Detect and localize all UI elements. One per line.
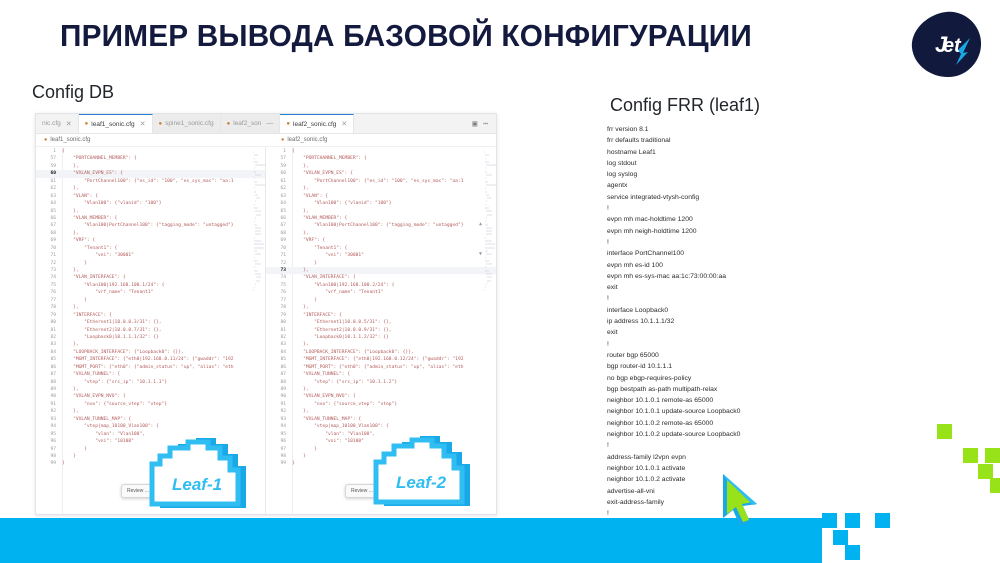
line-source: "Vlan100": {"vlanid": "100"} bbox=[292, 200, 496, 207]
line-number: 79 bbox=[266, 312, 292, 319]
line-number: 68 bbox=[266, 230, 292, 237]
minimap-right[interactable] bbox=[484, 151, 494, 511]
line-source: "PortChannel100": {"es_id": "100", "es_s… bbox=[292, 178, 496, 185]
code-line[interactable]: 60 "VXLAN_EVPN_ES": { bbox=[266, 170, 496, 177]
line-number: 87 bbox=[266, 371, 292, 378]
code-line[interactable]: 78 }, bbox=[36, 304, 265, 311]
line-number: 57 bbox=[36, 155, 62, 162]
minimap-line bbox=[485, 250, 488, 252]
minimap-line bbox=[486, 230, 492, 232]
code-line[interactable]: 68 }, bbox=[266, 230, 496, 237]
code-line[interactable]: 1{ bbox=[36, 148, 265, 155]
minimap-line bbox=[255, 283, 256, 285]
minimap-line bbox=[485, 207, 489, 209]
code-line[interactable]: 83 }, bbox=[266, 341, 496, 348]
editor-tab-leaf2-right[interactable]: ● leaf2_sonic.cfg ✕ bbox=[280, 114, 354, 133]
modified-dot-icon: ● bbox=[159, 121, 163, 127]
code-line[interactable]: 65 }, bbox=[36, 208, 265, 215]
code-line[interactable]: 73 }, bbox=[266, 267, 496, 274]
minimap-line bbox=[485, 154, 489, 156]
line-number: 84 bbox=[266, 349, 292, 356]
line-number: 1 bbox=[266, 148, 292, 155]
code-line[interactable]: 79 "INTERFACE": { bbox=[36, 312, 265, 319]
code-line[interactable]: 81 "Ethernet2|10.0.0.7/31": {}, bbox=[36, 327, 265, 334]
minimap-line bbox=[254, 204, 255, 206]
code-line[interactable]: 68 }, bbox=[36, 230, 265, 237]
line-source: "VLAN_INTERFACE": { bbox=[62, 274, 265, 281]
scroll-down-icon[interactable]: ▼ bbox=[479, 251, 482, 257]
line-source: "MGMT_PORT": {"eth0": {"admin_status": "… bbox=[62, 364, 265, 371]
line-source: "Loopback0|10.1.1.1/32": {} bbox=[62, 334, 265, 341]
code-line[interactable]: 80 "Ethernet1|10.0.0.5/31": {}, bbox=[266, 319, 496, 326]
minimap-line bbox=[254, 266, 255, 268]
code-line[interactable]: 64 "Vlan100": {"vlanid": "100"} bbox=[36, 200, 265, 207]
frr-config-line: address-family l2vpn evpn bbox=[607, 452, 857, 463]
frr-config-line: ip address 10.1.1.1/32 bbox=[607, 316, 857, 327]
code-line[interactable]: 64 "Vlan100": {"vlanid": "100"} bbox=[266, 200, 496, 207]
code-line[interactable]: 90 "VXLAN_EVPN_NVO": { bbox=[36, 393, 265, 400]
minimap-line bbox=[485, 243, 495, 245]
line-source: "LOOPBACK_INTERFACE": {"Loopback0": {}}, bbox=[62, 349, 265, 356]
line-source: "Vlan100": {"vlanid": "100"} bbox=[62, 200, 265, 207]
jet-logo: J e t bbox=[908, 8, 984, 80]
code-line[interactable]: 73 }, bbox=[36, 267, 265, 274]
minimap-line bbox=[253, 289, 254, 291]
minimap-line bbox=[254, 207, 258, 209]
jet-logo-icon: J e t bbox=[908, 8, 984, 80]
editor-tab-nic[interactable]: nic.cfg ✕ bbox=[36, 114, 79, 133]
minimap-line bbox=[486, 253, 492, 255]
line-number: 70 bbox=[266, 245, 292, 252]
code-line[interactable]: 62 }, bbox=[266, 185, 496, 192]
minimap-line bbox=[253, 151, 254, 153]
line-source: "PORTCHANNEL_MEMBER": { bbox=[292, 155, 496, 162]
file-icon: ● bbox=[44, 137, 47, 143]
code-line[interactable]: 90 "VXLAN_EVPN_NVO": { bbox=[266, 393, 496, 400]
frr-config-line: bgp bestpath as-path multipath-relax bbox=[607, 384, 857, 395]
line-source: }, bbox=[292, 208, 496, 215]
code-line[interactable]: 82 "Loopback0|10.1.1.1/32": {} bbox=[36, 334, 265, 341]
frr-config-line: neighbor 10.1.0.1 update-source Loopback… bbox=[607, 406, 857, 417]
code-line[interactable]: 93 "VXLAN_TUNNEL_MAP": { bbox=[266, 416, 496, 423]
code-line[interactable]: 60 "VXLAN_EVPN_ES": { bbox=[36, 170, 265, 177]
editor-tabbar: nic.cfg ✕ ● leaf1_sonic.cfg ✕ ● spine1_s… bbox=[36, 114, 496, 134]
editor-tab-leaf2-partial[interactable]: ● leaf2_son — bbox=[221, 114, 281, 133]
frr-config-line: exit bbox=[607, 282, 857, 293]
code-line[interactable]: 74 "VLAN_INTERFACE": { bbox=[36, 274, 265, 281]
minimap-line bbox=[486, 184, 496, 186]
minimap-line bbox=[256, 197, 260, 199]
code-line[interactable]: 1{ bbox=[266, 148, 496, 155]
code-content-left[interactable]: 1{57 "PORTCHANNEL_MEMBER": {59 },60 "VXL… bbox=[36, 147, 265, 468]
code-line[interactable]: 94 "vtep|map_10100_Vlan100": { bbox=[36, 423, 265, 430]
code-line[interactable]: 72 } bbox=[266, 260, 496, 267]
frr-config-line: agentx bbox=[607, 180, 857, 191]
line-number: 74 bbox=[266, 274, 292, 281]
minimap-line bbox=[487, 214, 492, 216]
line-number: 95 bbox=[36, 431, 62, 438]
code-line[interactable]: 71 "vni": "30001" bbox=[36, 252, 265, 259]
frr-config-line: log syslog bbox=[607, 169, 857, 180]
line-source: } bbox=[62, 297, 265, 304]
minimap-line bbox=[486, 233, 492, 235]
editor-tab-label: spine1_sonic.cfg bbox=[165, 120, 213, 127]
frr-config-line: evpn mh neigh-holdtime 1200 bbox=[607, 226, 857, 237]
close-icon[interactable]: ✕ bbox=[341, 120, 347, 128]
line-source: "Ethernet1|10.0.0.3/31": {}, bbox=[62, 319, 265, 326]
code-line[interactable]: 80 "Ethernet1|10.0.0.3/31": {}, bbox=[36, 319, 265, 326]
minimap-line bbox=[255, 253, 261, 255]
code-line[interactable]: 75 "Vlan100|192.168.100.2/24": { bbox=[266, 282, 496, 289]
caption-config-frr: Config FRR (leaf1) bbox=[610, 95, 760, 116]
minimap-line bbox=[487, 276, 492, 278]
code-line[interactable]: 89 }, bbox=[266, 386, 496, 393]
code-line[interactable]: 67 "Vlan100|PortChannel100": {"tagging_m… bbox=[36, 222, 265, 229]
line-source: }, bbox=[62, 408, 265, 415]
deco-square-green bbox=[937, 424, 952, 439]
minimap-line bbox=[254, 224, 257, 226]
line-number: 61 bbox=[36, 178, 62, 185]
line-source: "VXLAN_EVPN_ES": { bbox=[292, 170, 496, 177]
frr-config-line: bgp router-id 10.1.1.1 bbox=[607, 361, 857, 372]
line-source: }, bbox=[292, 341, 496, 348]
code-line[interactable]: 59 }, bbox=[266, 163, 496, 170]
minimap-line bbox=[485, 266, 486, 268]
minimap-line bbox=[486, 227, 492, 229]
minimap-line bbox=[255, 217, 256, 219]
line-number: 61 bbox=[266, 178, 292, 185]
code-line[interactable]: 67 "Vlan100|PortChannel100": {"tagging_m… bbox=[266, 222, 496, 229]
minimap-line bbox=[484, 289, 485, 291]
scroll-up-icon[interactable]: ▲ bbox=[479, 221, 482, 227]
line-source: "VXLAN_EVPN_ES": { bbox=[62, 170, 265, 177]
line-number: 75 bbox=[36, 282, 62, 289]
minimap-line bbox=[486, 263, 492, 265]
line-source: "Vlan100|PortChannel100": {"tagging_mode… bbox=[62, 222, 265, 229]
line-source: "VLAN_MEMBER": { bbox=[62, 215, 265, 222]
line-source: "PortChannel100": {"es_id": "100", "es_s… bbox=[62, 178, 265, 185]
code-line[interactable]: 72 } bbox=[36, 260, 265, 267]
line-source: "nvo": {"source_vtep": "vtep"} bbox=[292, 401, 496, 408]
line-source: "vni": "30001" bbox=[62, 252, 265, 259]
code-line[interactable]: 78 }, bbox=[266, 304, 496, 311]
line-number: 90 bbox=[266, 393, 292, 400]
line-number: 88 bbox=[266, 379, 292, 386]
line-number: 72 bbox=[266, 260, 292, 267]
frr-config-line: exit bbox=[607, 327, 857, 338]
minimap-line bbox=[254, 237, 255, 239]
code-line[interactable]: 79 "INTERFACE": { bbox=[266, 312, 496, 319]
minimap-line bbox=[254, 286, 255, 288]
line-source: "Ethernet2|10.0.0.9/31": {}, bbox=[292, 327, 496, 334]
line-number: 1 bbox=[36, 148, 62, 155]
code-line[interactable]: 91 "nvo": {"source_vtep": "vtep"} bbox=[36, 401, 265, 408]
code-line[interactable]: 92 }, bbox=[36, 408, 265, 415]
line-source: "Tenant1": { bbox=[62, 245, 265, 252]
minimap-line bbox=[254, 270, 258, 272]
line-source: "VLAN_INTERFACE": { bbox=[292, 274, 496, 281]
line-source: "VLAN": { bbox=[62, 193, 265, 200]
line-source: "VXLAN_EVPN_NVO": { bbox=[62, 393, 265, 400]
breadcrumb-left-label: leaf1_sonic.cfg bbox=[50, 137, 90, 143]
line-source: "nvo": {"source_vtep": "vtep"} bbox=[62, 401, 265, 408]
minimap-line bbox=[254, 257, 255, 259]
line-source: }, bbox=[62, 341, 265, 348]
code-line[interactable]: 88 "vtep": {"src_ip": "10.1.1.1"} bbox=[36, 379, 265, 386]
frr-config-line: ! bbox=[607, 440, 857, 451]
bottom-band bbox=[0, 518, 822, 563]
line-number: 93 bbox=[36, 416, 62, 423]
line-number: 86 bbox=[266, 364, 292, 371]
line-number: 67 bbox=[266, 222, 292, 229]
code-line[interactable]: 84 "LOOPBACK_INTERFACE": {"Loopback0": {… bbox=[36, 349, 265, 356]
line-source: "Ethernet2|10.0.0.7/31": {}, bbox=[62, 327, 265, 334]
line-number: 69 bbox=[36, 237, 62, 244]
minimap-line bbox=[256, 214, 261, 216]
code-line[interactable]: 74 "VLAN_INTERFACE": { bbox=[266, 274, 496, 281]
editor-tab-label: nic.cfg bbox=[42, 120, 61, 127]
line-number: 92 bbox=[36, 408, 62, 415]
code-line[interactable]: 86 "MGMT_PORT": {"eth0": {"admin_status"… bbox=[36, 364, 265, 371]
line-source: "vtep|map_10100_Vlan100": { bbox=[62, 423, 265, 430]
code-line[interactable]: 77 } bbox=[266, 297, 496, 304]
line-number: 93 bbox=[266, 416, 292, 423]
code-line[interactable]: 88 "vtep": {"src_ip": "10.1.1.2"} bbox=[266, 379, 496, 386]
line-number: 67 bbox=[36, 222, 62, 229]
minimap-line bbox=[254, 161, 258, 163]
code-line[interactable]: 86 "MGMT_PORT": {"eth0": {"admin_status"… bbox=[266, 364, 496, 371]
code-line[interactable]: 57 "PORTCHANNEL_MEMBER": { bbox=[36, 155, 265, 162]
frr-config-line: evpn mh es-id 100 bbox=[607, 260, 857, 271]
code-line[interactable]: 65 }, bbox=[266, 208, 496, 215]
code-line[interactable]: 61 "PortChannel100": {"es_id": "100", "e… bbox=[266, 178, 496, 185]
line-number: 71 bbox=[266, 252, 292, 259]
line-number: 64 bbox=[36, 200, 62, 207]
line-number: 72 bbox=[36, 260, 62, 267]
line-number: 84 bbox=[36, 349, 62, 356]
frr-config-line: ! bbox=[607, 293, 857, 304]
minimap-line bbox=[485, 240, 492, 242]
line-source: "vrf_name": "Tenant1" bbox=[62, 289, 265, 296]
code-line[interactable]: 85 "MGMT_INTERFACE": {"eth0|192.168.0.12… bbox=[266, 356, 496, 363]
editor-tab-label: leaf2_sonic.cfg bbox=[293, 121, 336, 128]
line-number: 73 bbox=[266, 267, 292, 274]
line-number: 78 bbox=[266, 304, 292, 311]
line-number: 60 bbox=[266, 170, 292, 177]
line-number: 69 bbox=[266, 237, 292, 244]
frr-config-line: ! bbox=[607, 203, 857, 214]
minimap-line bbox=[254, 167, 255, 169]
code-line[interactable]: 69 "VRF": { bbox=[36, 237, 265, 244]
line-number: 87 bbox=[36, 371, 62, 378]
minimap-line bbox=[255, 210, 261, 212]
line-number: 60 bbox=[36, 170, 62, 177]
code-line[interactable]: 92 }, bbox=[266, 408, 496, 415]
minimap-line bbox=[256, 280, 260, 282]
code-line[interactable]: 85 "MGMT_INTERFACE": {"eth0|192.168.0.11… bbox=[36, 356, 265, 363]
minimap-line bbox=[485, 220, 486, 222]
minimap-line bbox=[485, 177, 486, 179]
code-line[interactable]: 69 "VRF": { bbox=[266, 237, 496, 244]
modified-dot-icon: ● bbox=[227, 121, 231, 127]
line-number: 81 bbox=[266, 327, 292, 334]
line-source: }, bbox=[62, 230, 265, 237]
breadcrumb-left[interactable]: ● leaf1_sonic.cfg bbox=[36, 137, 273, 143]
minimap-line bbox=[255, 230, 261, 232]
line-source: "VLAN": { bbox=[292, 193, 496, 200]
line-number: 81 bbox=[36, 327, 62, 334]
minimap-line bbox=[254, 260, 258, 262]
frr-config-line: interface PortChannel100 bbox=[607, 248, 857, 259]
line-source: "Vlan100|192.168.100.2/24": { bbox=[292, 282, 496, 289]
code-line[interactable]: 75 "Vlan100|192.168.100.1/24": { bbox=[36, 282, 265, 289]
line-number: 94 bbox=[266, 423, 292, 430]
code-line[interactable]: 71 "vni": "30001" bbox=[266, 252, 496, 259]
minimap-line bbox=[485, 237, 486, 239]
line-number: 77 bbox=[266, 297, 292, 304]
more-actions-icon[interactable]: ⋯ bbox=[483, 120, 488, 128]
minimap-line bbox=[485, 167, 486, 169]
deco-square-blue bbox=[875, 513, 890, 528]
frr-config-line: ! bbox=[607, 339, 857, 350]
minimap-line bbox=[254, 240, 261, 242]
line-source: "VRF": { bbox=[62, 237, 265, 244]
line-number: 66 bbox=[266, 215, 292, 222]
frr-config-line: frr version 8.1 bbox=[607, 124, 857, 135]
code-line[interactable]: 91 "nvo": {"source_vtep": "vtep"} bbox=[266, 401, 496, 408]
code-content-right[interactable]: 1{57 "PORTCHANNEL_MEMBER": {59 },60 "VXL… bbox=[266, 147, 496, 468]
minimap-line bbox=[486, 273, 492, 275]
modified-dot-icon: ● bbox=[85, 121, 89, 127]
editor-tab-label: leaf1_sonic.cfg bbox=[91, 121, 134, 128]
code-line[interactable]: 66 "VLAN_MEMBER": { bbox=[36, 215, 265, 222]
code-line[interactable]: 87 "VXLAN_TUNNEL": { bbox=[266, 371, 496, 378]
line-source: "Loopback0|10.1.1.2/32": {} bbox=[292, 334, 496, 341]
caption-config-db: Config DB bbox=[32, 82, 114, 103]
minimap-line bbox=[254, 171, 256, 173]
line-number: 99 bbox=[266, 460, 292, 467]
breadcrumb-right-label: leaf2_sonic.cfg bbox=[287, 137, 327, 143]
line-number: 97 bbox=[266, 446, 292, 453]
editor-tab-spine1[interactable]: ● spine1_sonic.cfg bbox=[153, 114, 221, 133]
code-line[interactable]: 76 "vrf_name": "Tenant1" bbox=[36, 289, 265, 296]
line-source: "LOOPBACK_INTERFACE": {"Loopback0": {}}, bbox=[292, 349, 496, 356]
minimap-line bbox=[255, 194, 258, 196]
split-editor-icon[interactable]: ▣ bbox=[472, 120, 477, 128]
minimap-line bbox=[485, 161, 489, 163]
line-source: }, bbox=[292, 163, 496, 170]
line-number: 68 bbox=[36, 230, 62, 237]
minimap-line bbox=[256, 276, 261, 278]
code-line[interactable]: 70 "Tenant1": { bbox=[36, 245, 265, 252]
minimap-line bbox=[254, 243, 264, 245]
deco-square-blue bbox=[833, 530, 848, 545]
minimap-line bbox=[485, 257, 486, 259]
minimap-line bbox=[486, 174, 492, 176]
code-line[interactable]: 77 } bbox=[36, 297, 265, 304]
editor-breadcrumbs: ● leaf1_sonic.cfg ● leaf2_sonic.cfg bbox=[36, 134, 496, 147]
line-number: 92 bbox=[266, 408, 292, 415]
line-source: { bbox=[292, 148, 496, 155]
line-source: }, bbox=[292, 304, 496, 311]
callout-label: Leaf-1 bbox=[172, 475, 222, 494]
line-source: "MGMT_PORT": {"eth0": {"admin_status": "… bbox=[292, 364, 496, 371]
minimap-line bbox=[485, 260, 489, 262]
code-line[interactable]: 70 "Tenant1": { bbox=[266, 245, 496, 252]
line-number: 70 bbox=[36, 245, 62, 252]
code-line[interactable]: 82 "Loopback0|10.1.1.2/32": {} bbox=[266, 334, 496, 341]
close-icon[interactable]: ✕ bbox=[140, 120, 146, 128]
minimap-line bbox=[254, 158, 255, 160]
line-number: 57 bbox=[266, 155, 292, 162]
minimap-line bbox=[486, 283, 487, 285]
minimap-line bbox=[484, 151, 485, 153]
code-line[interactable]: 87 "VXLAN_TUNNEL": { bbox=[36, 371, 265, 378]
line-number: 59 bbox=[36, 163, 62, 170]
code-line[interactable]: 62 }, bbox=[36, 185, 265, 192]
line-number: 79 bbox=[36, 312, 62, 319]
line-source: "PORTCHANNEL_MEMBER": { bbox=[62, 155, 265, 162]
line-source: } bbox=[292, 260, 496, 267]
line-source: }, bbox=[292, 386, 496, 393]
line-source: "VXLAN_TUNNEL": { bbox=[62, 371, 265, 378]
line-number: 94 bbox=[36, 423, 62, 430]
line-source: }, bbox=[62, 304, 265, 311]
code-line[interactable]: 83 }, bbox=[36, 341, 265, 348]
line-source: }, bbox=[62, 163, 265, 170]
minimap-line bbox=[255, 233, 261, 235]
code-line[interactable]: 63 "VLAN": { bbox=[266, 193, 496, 200]
code-line[interactable]: 57 "PORTCHANNEL_MEMBER": { bbox=[266, 155, 496, 162]
code-line[interactable]: 76 "vrf_name": "Tenant1" bbox=[266, 289, 496, 296]
code-line[interactable]: 66 "VLAN_MEMBER": { bbox=[266, 215, 496, 222]
line-source: "VLAN_MEMBER": { bbox=[292, 215, 496, 222]
minimap-line bbox=[254, 177, 255, 179]
frr-config-line: service integrated-vtysh-config bbox=[607, 192, 857, 203]
editor-tab-leaf1[interactable]: ● leaf1_sonic.cfg ✕ bbox=[79, 114, 153, 133]
deco-square-green bbox=[963, 448, 978, 463]
pixel-cursor-icon bbox=[717, 470, 777, 545]
frr-config-line: router bgp 65000 bbox=[607, 350, 857, 361]
frr-config-line: log stdout bbox=[607, 158, 857, 169]
line-source: "vtep": {"src_ip": "10.1.1.2"} bbox=[292, 379, 496, 386]
code-line[interactable]: 84 "LOOPBACK_INTERFACE": {"Loopback0": {… bbox=[266, 349, 496, 356]
minimap-line bbox=[254, 181, 257, 183]
tabs-overflow-icon[interactable]: — bbox=[266, 120, 273, 127]
line-source: "vni": "30001" bbox=[292, 252, 496, 259]
minimap-line bbox=[485, 204, 486, 206]
line-source: { bbox=[62, 148, 265, 155]
line-number: 62 bbox=[266, 185, 292, 192]
code-line[interactable]: 59 }, bbox=[36, 163, 265, 170]
code-line[interactable]: 81 "Ethernet2|10.0.0.9/31": {}, bbox=[266, 327, 496, 334]
line-source: "Tenant1": { bbox=[292, 245, 496, 252]
line-source: "VXLAN_TUNNEL": { bbox=[292, 371, 496, 378]
line-number: 83 bbox=[266, 341, 292, 348]
line-number: 78 bbox=[36, 304, 62, 311]
line-number: 96 bbox=[266, 438, 292, 445]
code-line[interactable]: 63 "VLAN": { bbox=[36, 193, 265, 200]
line-number: 66 bbox=[36, 215, 62, 222]
code-line[interactable]: 61 "PortChannel100": {"es_id": "100", "e… bbox=[36, 178, 265, 185]
close-icon[interactable]: ✕ bbox=[66, 120, 72, 128]
breadcrumb-right[interactable]: ● leaf2_sonic.cfg bbox=[273, 137, 327, 143]
frr-config-line: evpn mh mac-holdtime 1200 bbox=[607, 214, 857, 225]
code-line[interactable]: 93 "VXLAN_TUNNEL_MAP": { bbox=[36, 416, 265, 423]
minimap-line bbox=[486, 210, 492, 212]
code-line[interactable]: 89 }, bbox=[36, 386, 265, 393]
line-number: 99 bbox=[36, 460, 62, 467]
